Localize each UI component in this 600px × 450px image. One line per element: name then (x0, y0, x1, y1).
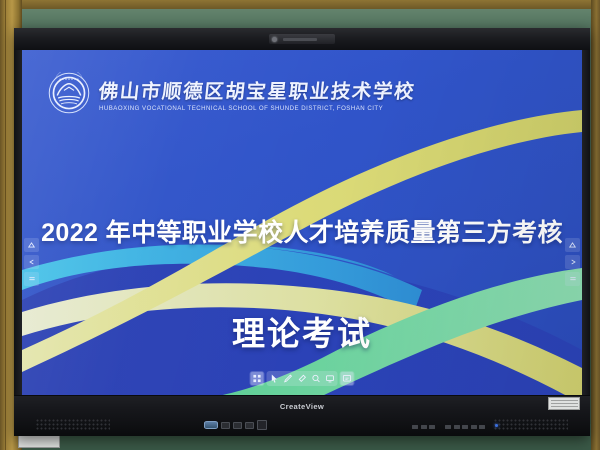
eraser-icon[interactable] (296, 372, 309, 385)
camera-module (269, 34, 335, 44)
bezel-key[interactable] (429, 425, 435, 429)
floating-toolbar[interactable] (250, 371, 355, 386)
speaker-grille-left (36, 419, 110, 431)
cursor-arrow-icon[interactable] (268, 372, 281, 385)
bezel-right (582, 50, 590, 396)
slide-title-sub: 理论考试 (22, 307, 582, 355)
magnifier-icon[interactable] (310, 372, 323, 385)
toolbar-group-apps[interactable] (250, 371, 265, 386)
pen-icon[interactable] (282, 372, 295, 385)
toolbar-group-tools[interactable] (267, 371, 338, 386)
wood-trim-right (591, 0, 600, 450)
annotate-icon[interactable] (341, 372, 354, 385)
bezel-key[interactable] (445, 425, 451, 429)
bezel-key[interactable] (454, 425, 460, 429)
home-triangle-icon[interactable] (24, 238, 39, 252)
microphone-slit (283, 38, 317, 41)
slide-title-main: 2022 年中等职业学校人才培养质量第三方考核 (22, 213, 582, 249)
svg-text:★ ★ ★ ★ ★ ★ ★: ★ ★ ★ ★ ★ ★ ★ (59, 77, 80, 81)
bezel-key[interactable] (421, 425, 427, 429)
camera-lens-icon (272, 37, 277, 42)
school-name-cn: 佛山市顺德区胡宝星职业技术学校 (97, 75, 417, 104)
hdmi-port[interactable] (257, 420, 267, 430)
bezel-key[interactable] (462, 425, 468, 429)
bezel-key[interactable] (471, 425, 477, 429)
presentation-slide: ★ ★ ★ ★ ★ ★ ★ 佛山市顺德区胡宝星职业技术学校 HUBAOXING … (22, 50, 582, 396)
menu-icon[interactable] (24, 272, 39, 286)
bezel-key[interactable] (479, 425, 485, 429)
back-icon[interactable] (565, 255, 580, 269)
interactive-flat-panel: ★ ★ ★ ★ ★ ★ ★ 佛山市顺德区胡宝星职业技术学校 HUBAOXING … (14, 28, 590, 436)
side-dock-left[interactable] (24, 238, 39, 286)
school-crest-emblem: ★ ★ ★ ★ ★ ★ ★ (48, 72, 90, 114)
home-triangle-icon[interactable] (565, 238, 580, 252)
usb-port[interactable] (245, 422, 254, 429)
wood-trim-top (0, 0, 600, 9)
power-led-indicator (495, 424, 498, 427)
vga-port[interactable] (204, 421, 218, 429)
school-name-block: 佛山市顺德区胡宝星职业技术学校 HUBAOXING VOCATIONAL TEC… (99, 75, 416, 112)
spec-label-sticker (548, 397, 580, 410)
usb-port[interactable] (233, 422, 242, 429)
display-screen[interactable]: ★ ★ ★ ★ ★ ★ ★ 佛山市顺德区胡宝星职业技术学校 HUBAOXING … (22, 50, 582, 396)
menu-icon[interactable] (565, 272, 580, 286)
school-logo-header: ★ ★ ★ ★ ★ ★ ★ 佛山市顺德区胡宝星职业技术学校 HUBAOXING … (48, 72, 416, 114)
speaker-grille-right (494, 419, 568, 431)
brand-logo: CreateView (280, 402, 324, 411)
port-cluster[interactable] (204, 420, 267, 430)
bezel-key[interactable] (412, 425, 418, 429)
usb-port[interactable] (221, 422, 230, 429)
bezel-bottom: CreateView (14, 395, 590, 436)
bezel-key-row[interactable] (412, 425, 485, 429)
bezel-left (14, 50, 22, 396)
back-icon[interactable] (24, 255, 39, 269)
sticker-text-lines (551, 400, 578, 408)
classroom-scene: ★ ★ ★ ★ ★ ★ ★ 佛山市顺德区胡宝星职业技术学校 HUBAOXING … (0, 0, 600, 450)
toolbar-group-annotate[interactable] (340, 371, 355, 386)
apps-grid-icon[interactable] (251, 372, 264, 385)
bezel-top (14, 28, 590, 50)
screen-capture-icon[interactable] (324, 372, 337, 385)
school-name-en: HUBAOXING VOCATIONAL TECHNICAL SCHOOL OF… (99, 104, 416, 111)
side-dock-right[interactable] (565, 238, 580, 286)
